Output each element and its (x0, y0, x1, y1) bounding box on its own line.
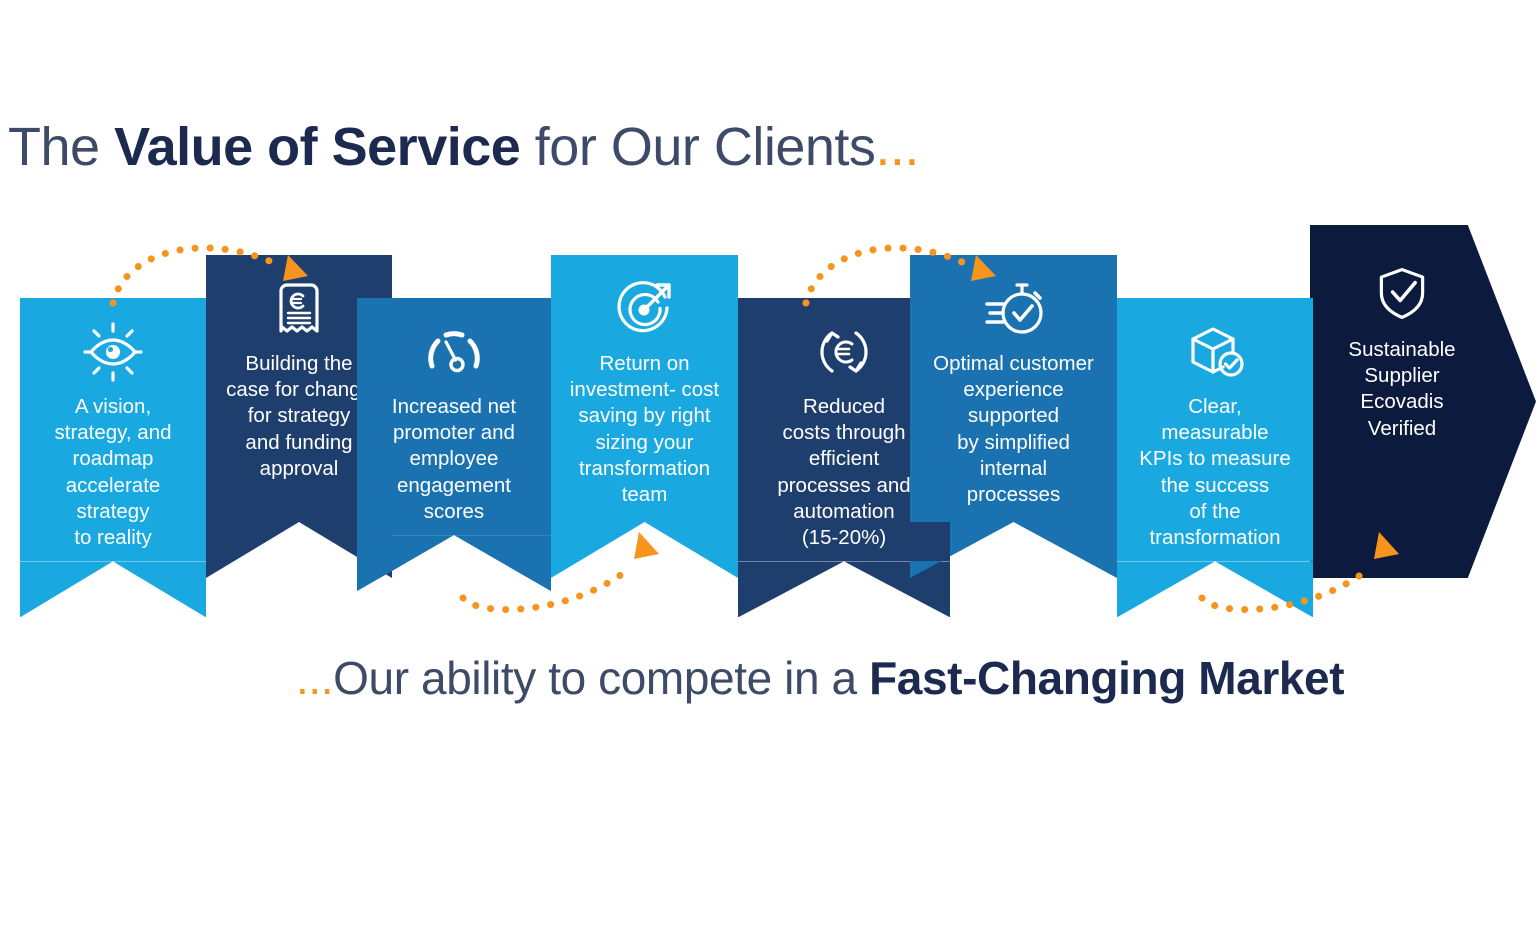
title-part-3: for Our Clients (520, 117, 875, 177)
subtitle-ellipsis: ... (296, 652, 333, 704)
step-card-6-body: Optimal customer experience supported by… (910, 255, 1117, 522)
step-card-7[interactable]: Clear, measurable KPIs to measure the su… (1117, 298, 1313, 578)
subtitle-part-1: Our ability to compete in a (333, 652, 869, 704)
eye-vision-icon (81, 320, 145, 384)
step-card-2-label: Building the case for change for strateg… (226, 351, 372, 482)
subtitle-part-2: Fast-Changing Market (869, 652, 1344, 704)
step-card-5-label: Reduced costs through efficient processe… (777, 394, 910, 551)
shield-check-icon (1372, 263, 1432, 323)
page-title: The Value of Service for Our Clients... (8, 120, 919, 174)
step-card-1[interactable]: A vision, strategy, and roadmap accelera… (20, 298, 206, 578)
step-card-8-label: Sustainable Supplier Ecovadis Verified (1348, 337, 1455, 442)
step-card-4[interactable]: Return on investment- cost saving by rig… (551, 255, 738, 578)
step-card-3-label: Increased net promoter and employee enga… (392, 394, 516, 525)
step-card-1-body: A vision, strategy, and roadmap accelera… (20, 298, 206, 561)
box-check-icon (1183, 320, 1247, 384)
step-card-8-arrow[interactable]: Sustainable Supplier Ecovadis Verified (1310, 225, 1536, 578)
step-card-7-label: Clear, measurable KPIs to measure the su… (1139, 394, 1291, 551)
fast-stopwatch-check-icon (982, 277, 1046, 341)
infographic-canvas: The Value of Service for Our Clients... … (0, 0, 1536, 925)
step-card-6-label: Optimal customer experience supported by… (933, 351, 1094, 508)
step-card-7-body: Clear, measurable KPIs to measure the su… (1117, 298, 1313, 561)
step-card-1-label: A vision, strategy, and roadmap accelera… (55, 394, 172, 551)
step-card-4-label: Return on investment- cost saving by rig… (570, 351, 719, 508)
title-part-1: The (8, 117, 114, 177)
step-card-3[interactable]: Increased net promoter and employee enga… (357, 298, 551, 578)
step-card-3-body: Increased net promoter and employee enga… (357, 298, 551, 535)
step-card-7-tail (1117, 561, 1313, 617)
gauge-icon (422, 320, 486, 384)
step-card-1-tail (20, 561, 206, 617)
step-card-4-body: Return on investment- cost saving by rig… (551, 255, 738, 522)
page-subtitle: ...Our ability to compete in a Fast-Chan… (296, 655, 1344, 701)
title-part-2: Value of Service (114, 117, 520, 177)
target-arrow-icon (613, 277, 677, 341)
step-card-3-tail (357, 535, 551, 591)
title-ellipsis: ... (875, 117, 919, 177)
euro-cycle-icon (812, 320, 876, 384)
receipt-euro-icon (267, 277, 331, 341)
step-card-4-tail (551, 522, 738, 578)
